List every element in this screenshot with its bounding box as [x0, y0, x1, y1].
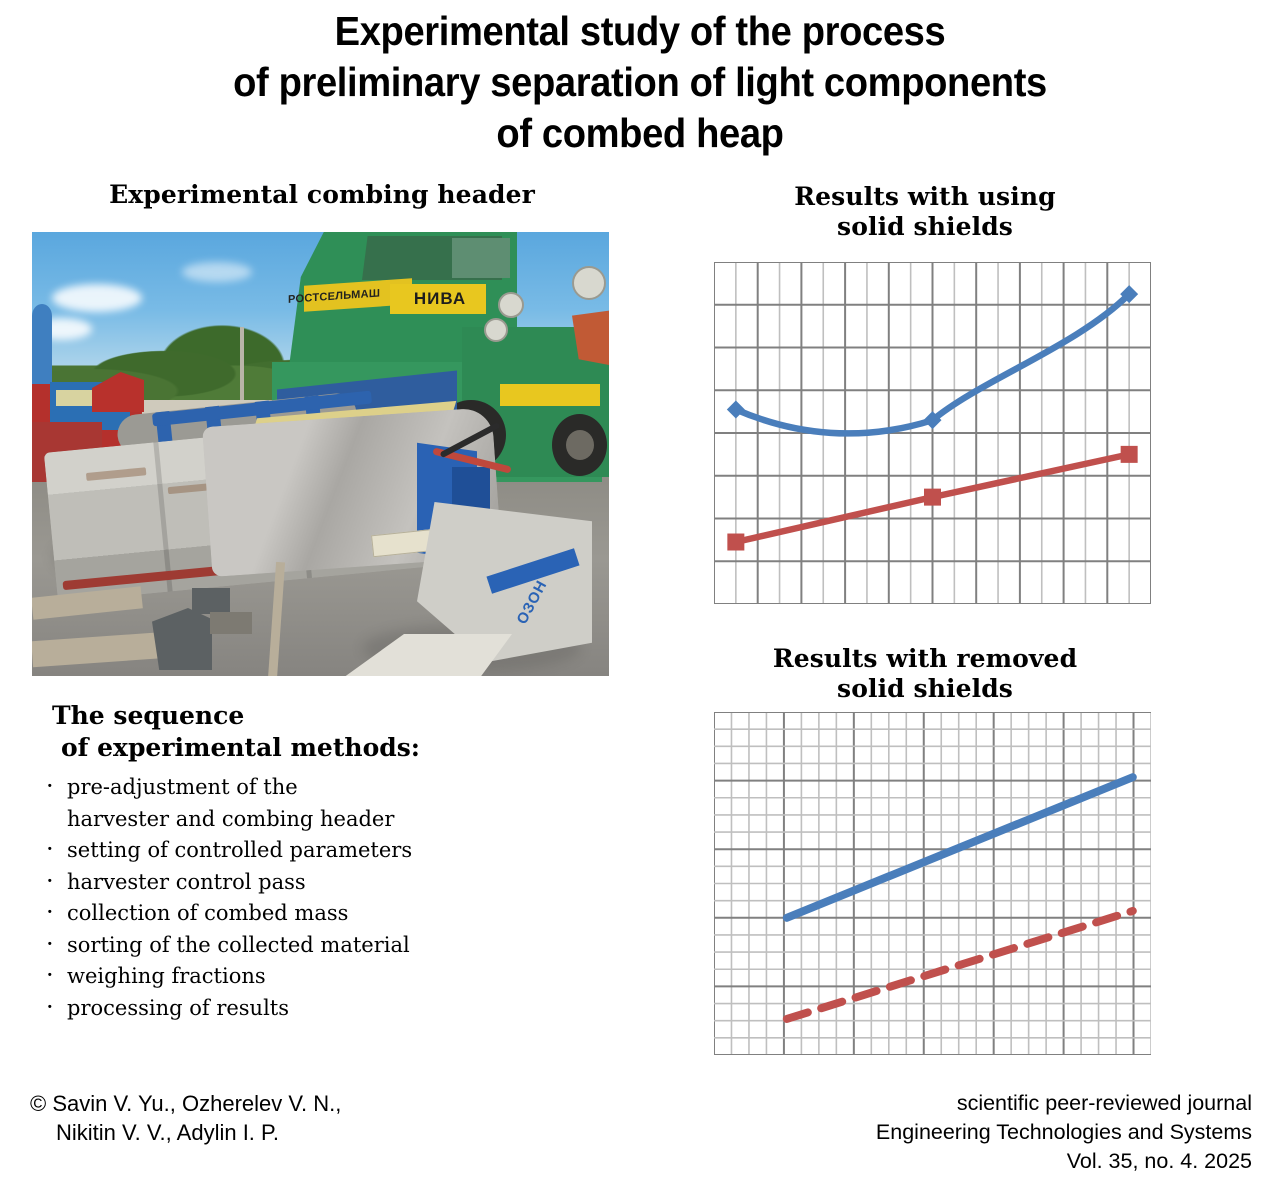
- list-item-continuation: harvester and combing header: [67, 804, 520, 836]
- list-item-text: setting of controlled parameters: [67, 838, 412, 862]
- photo-machine-brand-text: НИВА: [396, 286, 484, 312]
- chart1-svg: [714, 262, 1151, 604]
- sequence-list: pre-adjustment of the harvester and comb…: [40, 772, 520, 1024]
- list-item-text: weighing fractions: [67, 964, 266, 988]
- list-item-text: harvester control pass: [67, 870, 306, 894]
- list-item: harvester control pass: [40, 867, 520, 899]
- page-title-line-3: of combed heap: [45, 108, 1235, 159]
- copyright-footer: © Savin V. Yu., Ozherelev V. N., Nikitin…: [30, 1089, 341, 1147]
- photo-cab-window-side: [452, 238, 510, 278]
- chart2-gridlines: [714, 712, 1151, 1055]
- chart1-gridlines: [714, 262, 1151, 604]
- list-item: sorting of the collected material: [40, 930, 520, 962]
- photo-cloud: [182, 262, 252, 282]
- list-item-text: pre-adjustment of the: [67, 775, 298, 799]
- sequence-list-items: pre-adjustment of the harvester and comb…: [40, 772, 520, 1024]
- chart-results-with-removed-solid-shields: [714, 712, 1151, 1055]
- photo-rust-mark: [168, 483, 208, 494]
- experimental-combing-header-photo: РОСТСЕЛЬМАШ НИВА ОЗОН: [32, 232, 609, 676]
- chart-results-with-solid-shields: [714, 262, 1151, 604]
- chart2-heading-line-1: Results with removed: [700, 644, 1150, 674]
- list-item-text: collection of combed mass: [67, 901, 348, 925]
- journal-line-2: Engineering Technologies and Systems: [876, 1118, 1252, 1147]
- copyright-line-2: Nikitin V. V., Adylin I. P.: [56, 1118, 341, 1147]
- list-item: pre-adjustment of the harvester and comb…: [40, 772, 520, 835]
- photo-headlamp: [498, 292, 524, 318]
- photo-implement-label: [56, 390, 92, 406]
- photo-drum-seam: [153, 442, 172, 592]
- photo-lower-band: [500, 384, 600, 406]
- chart2-heading-line-2: solid shields: [700, 674, 1150, 704]
- list-item: processing of results: [40, 993, 520, 1025]
- list-item: collection of combed mass: [40, 898, 520, 930]
- chart2-heading: Results with removed solid shields: [700, 644, 1150, 704]
- page-title: Experimental study of the process of pre…: [45, 6, 1235, 159]
- sequence-title-line-1: The sequence: [52, 701, 244, 730]
- copyright-line-1: © Savin V. Yu., Ozherelev V. N.,: [30, 1091, 341, 1116]
- marker-square: [1121, 446, 1138, 463]
- marker-square: [727, 534, 744, 551]
- photo-metal-frame: [192, 588, 230, 614]
- page-title-line-2: of preliminary separation of light compo…: [45, 57, 1235, 108]
- chart2-svg: [714, 712, 1151, 1055]
- list-item: setting of controlled parameters: [40, 835, 520, 867]
- chart1-heading-line-1: Results with using: [700, 182, 1150, 212]
- page-title-line-1: Experimental study of the process: [45, 6, 1235, 57]
- photo-wheel-hub: [566, 430, 594, 460]
- journal-footer: scientific peer-reviewed journal Enginee…: [876, 1089, 1252, 1176]
- chart1-heading: Results with using solid shields: [700, 182, 1150, 242]
- journal-line-1: scientific peer-reviewed journal: [876, 1089, 1252, 1118]
- photo-cloud: [52, 284, 142, 312]
- photo-headlamp: [484, 318, 508, 342]
- marker-square: [924, 489, 941, 506]
- marker-diamond: [727, 400, 745, 418]
- sequence-title: The sequence of experimental methods:: [52, 700, 522, 764]
- list-item-text: sorting of the collected material: [67, 933, 410, 957]
- list-item: weighing fractions: [40, 961, 520, 993]
- photo-heading: Experimental combing header: [32, 180, 612, 210]
- photo-headlamp: [572, 266, 606, 300]
- chart1-heading-line-2: solid shields: [700, 212, 1150, 242]
- photo-debris: [210, 612, 252, 634]
- photo-rust-mark: [86, 467, 146, 481]
- list-item-text: processing of results: [67, 996, 289, 1020]
- journal-line-3: Vol. 35, no. 4. 2025: [876, 1147, 1252, 1176]
- sequence-title-line-2: of experimental methods:: [61, 732, 522, 764]
